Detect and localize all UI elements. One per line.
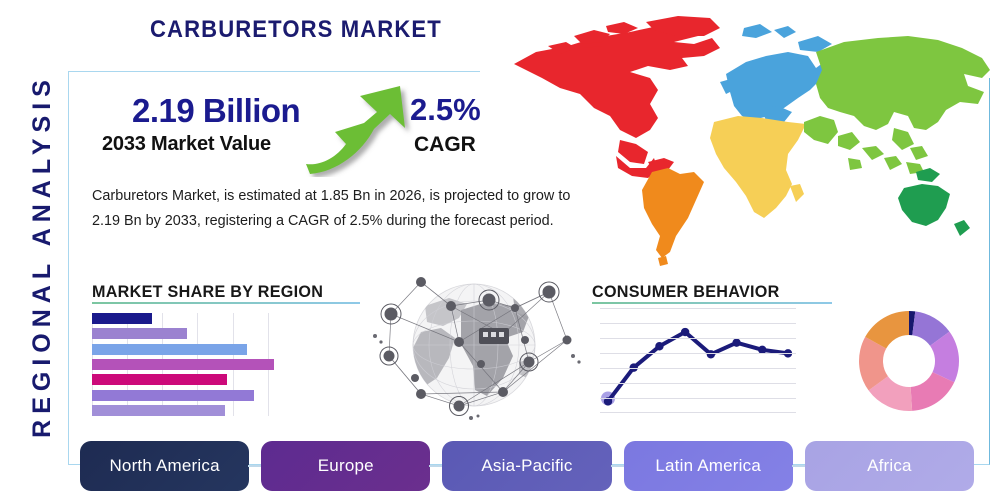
bar-row <box>92 374 227 385</box>
growth-arrow-icon <box>304 82 419 177</box>
section-rule-market-share <box>92 302 360 304</box>
region-pill-north-america[interactable]: North America <box>80 441 249 491</box>
region-pill-asia-pacific[interactable]: Asia-Pacific <box>442 441 611 491</box>
region-pill-africa[interactable]: Africa <box>805 441 974 491</box>
pill-connector <box>429 465 443 467</box>
region-pill-latin-america[interactable]: Latin America <box>624 441 793 491</box>
global-network-globe-icon <box>363 266 585 424</box>
bar-row <box>92 359 274 370</box>
bar-row <box>92 344 247 355</box>
pill-connector <box>611 465 625 467</box>
map-region-africa <box>710 116 806 218</box>
map-region-europe <box>720 24 832 122</box>
world-map <box>498 12 998 270</box>
bar-row <box>92 405 225 416</box>
section-header-consumer-behavior: CONSUMER BEHAVIOR <box>592 282 780 302</box>
stats-row: 2.19 Billion 2033 Market Value 2.5% CAGR <box>92 92 512 172</box>
cagr-caption: CAGR <box>414 133 476 157</box>
section-header-market-share: MARKET SHARE BY REGION <box>92 282 323 302</box>
section-rule-consumer-behavior <box>592 302 832 304</box>
consumer-behavior-line-chart <box>600 308 796 413</box>
map-region-north-america <box>514 16 720 178</box>
side-label-regional-analysis: REGIONAL ANALYSIS <box>22 46 62 466</box>
region-pill-label: Africa <box>867 456 912 476</box>
map-region-asia <box>804 36 990 174</box>
pill-connector <box>792 465 806 467</box>
line-chart-gridlines <box>600 308 796 413</box>
infographic-root: REGIONAL ANALYSIS CARBURETORS MARKET 2.1… <box>0 0 1000 500</box>
consumer-behavior-donut-chart <box>857 309 961 413</box>
region-pill-label: Europe <box>318 456 374 476</box>
region-pill-europe[interactable]: Europe <box>261 441 430 491</box>
page-title: CARBURETORS MARKET <box>150 16 442 44</box>
region-pill-row: North AmericaEuropeAsia-PacificLatin Ame… <box>80 441 974 491</box>
region-pill-label: Asia-Pacific <box>481 456 572 476</box>
map-region-oceania <box>898 168 970 236</box>
market-share-bar-chart <box>92 313 277 416</box>
map-region-south-america <box>642 168 704 266</box>
market-value-figure: 2.19 Billion <box>132 92 300 130</box>
region-pill-label: North America <box>109 456 219 476</box>
bar-row <box>92 390 254 401</box>
cagr-figure: 2.5% <box>410 92 481 128</box>
pill-connector <box>248 465 262 467</box>
bar-row <box>92 328 187 339</box>
region-pill-label: Latin America <box>655 456 761 476</box>
bar-row <box>92 313 152 324</box>
market-value-caption: 2033 Market Value <box>102 133 271 156</box>
